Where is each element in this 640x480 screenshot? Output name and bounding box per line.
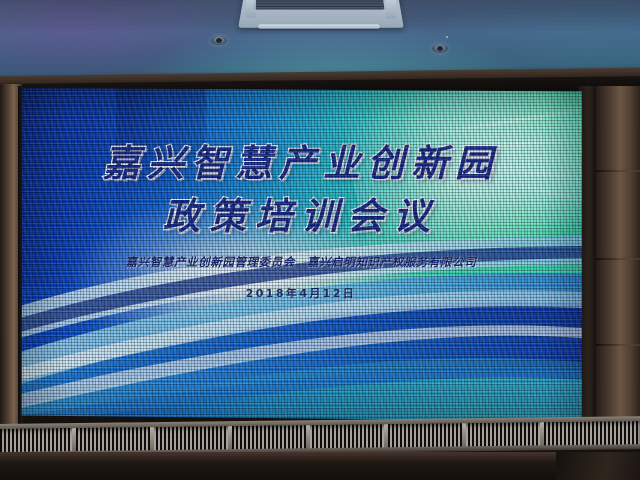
grille-divider: [72, 428, 76, 452]
floor-reflection: [0, 452, 640, 462]
banner-text-block: 嘉兴智慧产业创新园 政策培训会议 嘉兴智慧产业创新园管理委员会 嘉兴启明知识产权…: [20, 86, 582, 424]
ceiling-speck: [446, 36, 448, 38]
air-conditioner-front-lip: [258, 24, 381, 28]
banner-title-line-1: 嘉兴智慧产业创新园: [20, 142, 582, 186]
grille-divider: [462, 423, 466, 447]
recessed-downlight-right: [432, 44, 448, 53]
air-conditioner-vane-right: [386, 0, 396, 19]
air-conditioner-vane-left: [246, 0, 256, 18]
banner-organizers: 嘉兴智慧产业创新园管理委员会 嘉兴启明知识产权服务有限公司: [20, 254, 582, 270]
grille-divider: [540, 422, 544, 446]
wall-panel-seam: [596, 344, 640, 346]
air-conditioner-grille-icon: [253, 0, 384, 10]
grille-divider: [384, 424, 388, 448]
bronze-wood-wall-panel-right: [596, 86, 640, 438]
banner-date: 2018年4月12日: [20, 285, 582, 301]
led-video-wall: 嘉兴智慧产业创新园 政策培训会议 嘉兴智慧产业创新园管理委员会 嘉兴启明知识产权…: [20, 86, 582, 424]
grille-divider: [228, 426, 232, 450]
grille-divider: [150, 427, 154, 451]
floor-right-corner: [556, 452, 640, 480]
recessed-downlight-left: [211, 36, 227, 45]
wall-panel-seam: [596, 170, 640, 172]
grille-divider: [306, 425, 310, 449]
wall-panel-seam: [596, 258, 640, 260]
banner-title-line-2: 政策培训会议: [20, 195, 582, 239]
photo-scene: 嘉兴智慧产业创新园 政策培训会议 嘉兴智慧产业创新园管理委员会 嘉兴启明知识产权…: [0, 0, 640, 480]
